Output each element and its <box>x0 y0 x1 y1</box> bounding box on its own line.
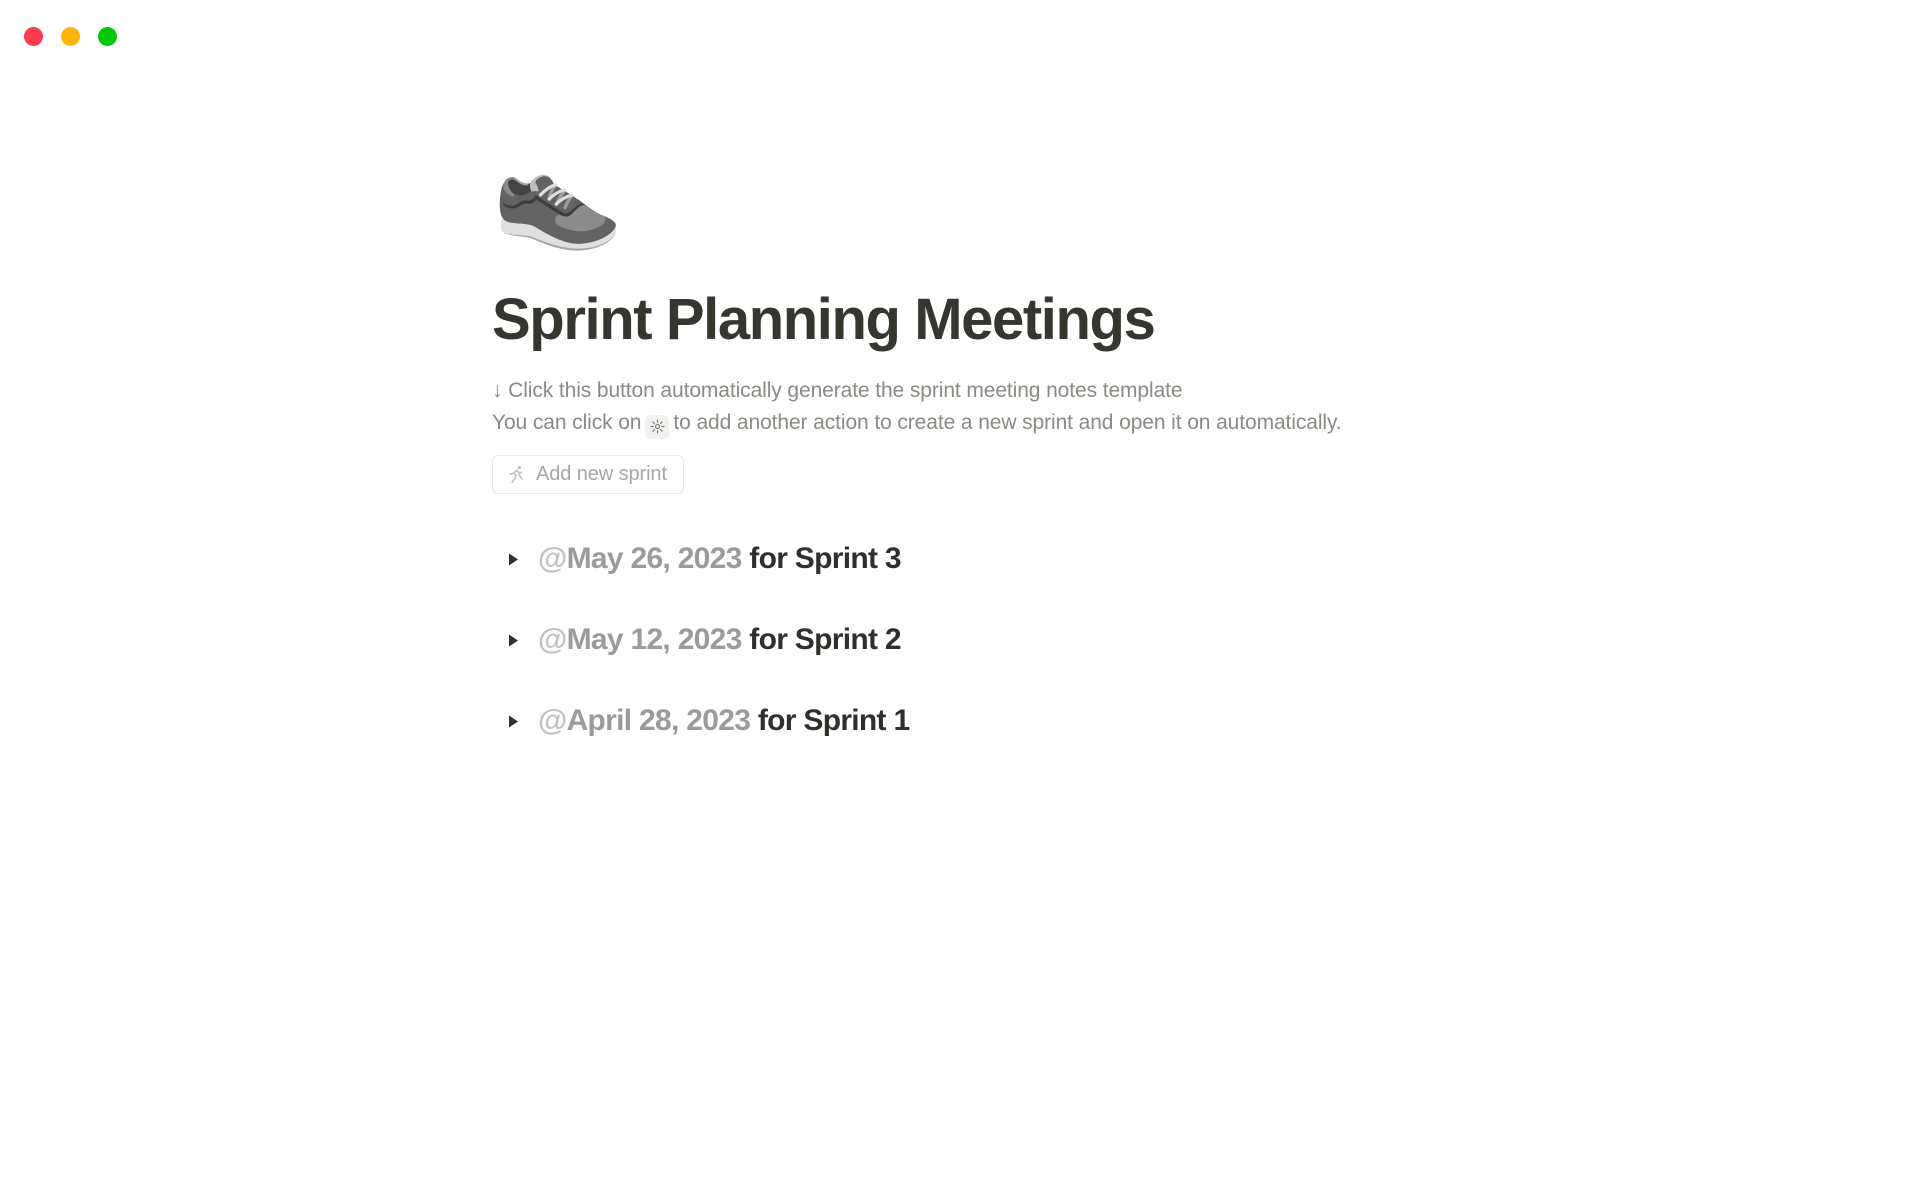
toggle-suffix: for Sprint 2 <box>749 623 901 656</box>
running-person-icon <box>506 464 527 485</box>
mention-at-symbol: @ <box>538 623 567 656</box>
description-line-2[interactable]: You can click on to add another action t… <box>492 407 1592 439</box>
toggle-title: @May 12, 2023 for Sprint 2 <box>538 620 901 660</box>
gear-icon[interactable] <box>645 415 669 439</box>
sprint-toggle-list: @May 26, 2023 for Sprint 3 @May 12, 2023… <box>492 536 1592 744</box>
mention-date[interactable]: May 12, 2023 <box>567 623 742 656</box>
document-content: 👟 Sprint Planning Meetings ↓ Click this … <box>492 140 1592 744</box>
minimize-window-button[interactable] <box>61 27 80 46</box>
description-line-2-suffix: to add another action to create a new sp… <box>673 411 1341 434</box>
mention-date[interactable]: April 28, 2023 <box>567 704 751 737</box>
toggle-suffix: for Sprint 1 <box>758 704 910 737</box>
description-line-1-text: Click this button automatically generate… <box>508 379 1182 402</box>
toggle-row[interactable]: @April 28, 2023 for Sprint 1 <box>492 698 1592 744</box>
add-new-sprint-button[interactable]: Add new sprint <box>492 455 684 494</box>
toggle-title: @April 28, 2023 for Sprint 1 <box>538 701 909 741</box>
toggle-row[interactable]: @May 26, 2023 for Sprint 3 <box>492 536 1592 582</box>
description-line-2-prefix: You can click on <box>492 411 641 434</box>
chevron-right-icon[interactable] <box>502 548 524 570</box>
page-title[interactable]: Sprint Planning Meetings <box>492 286 1592 353</box>
mention-date[interactable]: May 26, 2023 <box>567 542 742 575</box>
mention-at-symbol: @ <box>538 704 567 737</box>
page-description: ↓ Click this button automatically genera… <box>492 375 1592 439</box>
chevron-right-icon[interactable] <box>502 629 524 651</box>
maximize-window-button[interactable] <box>98 27 117 46</box>
description-line-1[interactable]: ↓ Click this button automatically genera… <box>492 375 1592 407</box>
mention-at-symbol: @ <box>538 542 567 575</box>
traffic-light-controls <box>24 27 117 46</box>
toggle-title: @May 26, 2023 for Sprint 3 <box>538 539 901 579</box>
chevron-right-icon[interactable] <box>502 710 524 732</box>
close-window-button[interactable] <box>24 27 43 46</box>
app-window: 👟 Sprint Planning Meetings ↓ Click this … <box>0 0 1920 1200</box>
window-titlebar <box>0 0 1920 72</box>
add-new-sprint-label: Add new sprint <box>536 463 667 486</box>
arrow-down-icon: ↓ <box>492 379 502 402</box>
running-shoe-emoji[interactable]: 👟 <box>492 140 1592 270</box>
toggle-row[interactable]: @May 12, 2023 for Sprint 2 <box>492 617 1592 663</box>
toggle-suffix: for Sprint 3 <box>749 542 901 575</box>
